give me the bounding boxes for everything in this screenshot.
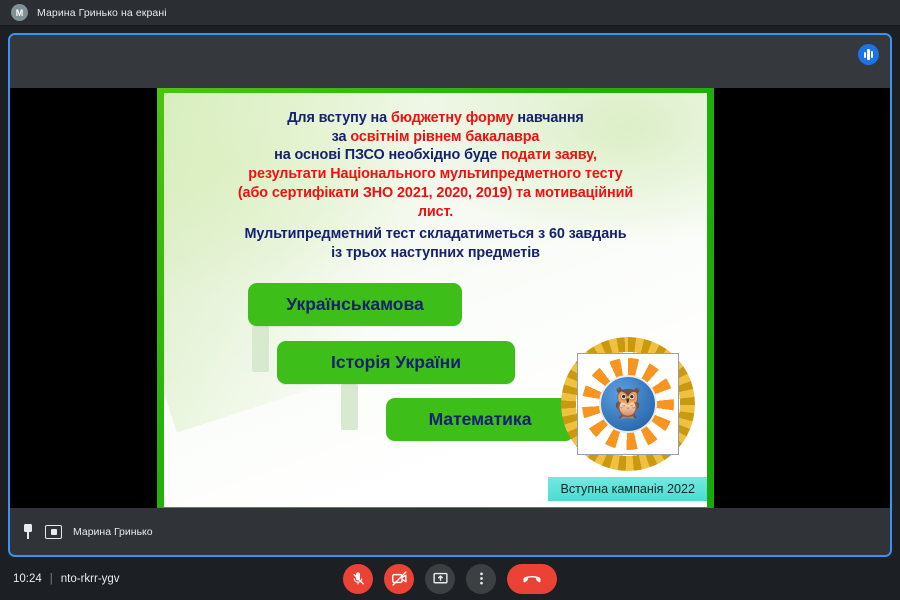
tile-footer: Марина Гринько (10, 508, 890, 555)
slide-text-span: освітнім рівнем бакалавра (350, 129, 539, 145)
meeting-app: M Марина Гринько на екрані Для вступу на… (0, 0, 900, 600)
info-separator: | (50, 573, 53, 585)
shared-screen-stage: Для вступу на бюджетну форму навчання за… (10, 88, 890, 512)
clock-time: 10:24 (13, 573, 42, 585)
slide-text-span: лист. (418, 204, 453, 220)
subject-box-2: Історія України (277, 341, 515, 384)
subject-box-3: Математика (386, 398, 574, 441)
call-controls (343, 564, 557, 594)
slide-line-4: результати Національного мультипредметно… (164, 165, 707, 184)
slide-line-7: Мультипредметний тест складатиметься з 6… (164, 225, 707, 244)
slide-text-span: навчання (517, 110, 583, 126)
camera-off-button[interactable] (384, 564, 414, 594)
slide-line-1: Для вступу на бюджетну форму навчання (164, 109, 707, 128)
tile-top-band (10, 35, 890, 88)
tile-participant-name: Марина Гринько (73, 526, 153, 538)
slide-banner: Вступна кампанія 2022 (548, 477, 707, 501)
slide-text-span: Мультипредметний тест складатиметься з 6… (245, 226, 627, 242)
hang-up-button[interactable] (507, 564, 557, 594)
presenter-banner-text: Марина Гринько на екрані (37, 7, 167, 19)
slide-body-text: Для вступу на бюджетну форму навчання за… (164, 93, 707, 263)
slide-line-3: на основі ПЗСО необхідно буде подати зая… (164, 146, 707, 165)
presentation-slide: Для вступу на бюджетну форму навчання за… (157, 88, 714, 512)
meeting-info: 10:24 | nto-rkrr-ygv (13, 573, 120, 585)
slide-text-span: Для вступу на (287, 110, 391, 126)
owl-emblem-icon: 🦉 (561, 337, 695, 471)
slide-line-5: (або сертифікати ЗНО 2021, 2020, 2019) т… (164, 184, 707, 203)
slide-line-2: за освітнім рівнем бакалавра (164, 128, 707, 147)
present-screen-button[interactable] (425, 564, 455, 594)
connector-bar (252, 326, 269, 372)
more-options-button[interactable] (466, 564, 496, 594)
slide-text-span: із трьох наступних предметів (331, 245, 540, 261)
slide-text-span: на основі ПЗСО необхідно буде (274, 147, 501, 163)
present-screen-icon (45, 525, 62, 539)
presentation-tile[interactable]: Для вступу на бюджетну форму навчання за… (8, 33, 892, 557)
microphone-muted-button[interactable] (343, 564, 373, 594)
slide-text-span: подати заяву, (501, 147, 597, 163)
bottom-bar: 10:24 | nto-rkrr-ygv (0, 557, 900, 600)
slide-line-8: із трьох наступних предметів (164, 244, 707, 263)
subject-box-1: Українськамова (248, 283, 462, 326)
slide-text-span: результати Національного мультипредметно… (248, 166, 622, 182)
avatar: M (11, 4, 28, 21)
audio-level-icon (858, 44, 879, 65)
avatar-initial: M (16, 8, 24, 18)
connector-bar (341, 384, 358, 430)
slide-line-6: лист. (164, 203, 707, 222)
pin-icon[interactable] (21, 524, 34, 539)
slide-text-span: за (332, 129, 351, 145)
meeting-code[interactable]: nto-rkrr-ygv (61, 573, 120, 585)
slide-text-span: (або сертифікати ЗНО 2021, 2020, 2019) т… (238, 185, 633, 201)
slide-text-span: бюджетну форму (391, 110, 517, 126)
top-bar: M Марина Гринько на екрані (0, 0, 900, 26)
